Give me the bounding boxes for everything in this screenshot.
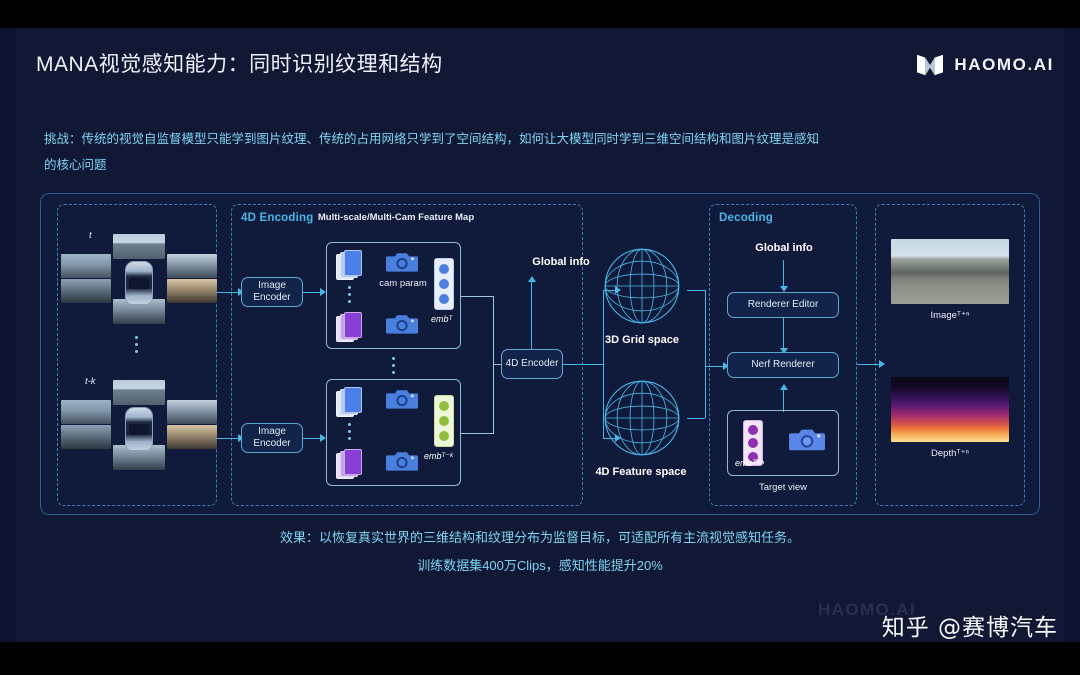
- letterbox-bottom: [0, 642, 1080, 675]
- arrow-grid-down: [705, 290, 706, 366]
- input-frame-t-k: t-k: [63, 374, 213, 472]
- input-frame-t-k-label: t-k: [85, 376, 96, 387]
- emb-token-top: [434, 258, 454, 310]
- output-image-depth: [891, 377, 1009, 442]
- grid-space-label: 3D Grid space: [582, 334, 702, 346]
- feature-space-label: 4D Feature space: [576, 466, 706, 478]
- arrow-into-nerf: [705, 366, 725, 367]
- cam-tile-front-right: [167, 400, 217, 424]
- feature-stack-ellipsis-bottom: [348, 423, 351, 440]
- arrow-feature-to-nerf: [687, 418, 705, 419]
- architecture-diagram-panel: 4D Encoding Decoding t t-k: [40, 193, 1040, 515]
- camera-icon-top: [386, 250, 418, 274]
- zhihu-watermark: 知乎 @赛博汽车: [882, 608, 1058, 642]
- feature-space-sphere-icon: [596, 372, 688, 464]
- brand-name: HAOMO.AI: [954, 55, 1054, 75]
- arrow-grid-to-nerf: [687, 290, 705, 291]
- ego-vehicle-icon: [125, 407, 153, 451]
- section-label-encoding: 4D Encoding: [241, 212, 313, 224]
- cam-tile-front: [113, 380, 165, 405]
- cam-tile-front: [113, 234, 165, 259]
- merge-line-bottom: [461, 433, 493, 434]
- cam-tile-rear-right: [167, 279, 217, 303]
- camera-icon-bottom-2: [386, 449, 418, 473]
- camera-icon-target: [789, 426, 825, 453]
- arrow-encoder-bottom-out: [303, 438, 321, 439]
- cam-tile-rear-left: [61, 425, 111, 449]
- challenge-text: 挑战：传统的视觉自监督模型只能学到图片纹理、传统的占用网络只学到了空间结构，如何…: [44, 126, 1044, 178]
- cam-tile-rear-right: [167, 425, 217, 449]
- ego-vehicle-icon: [125, 261, 153, 305]
- renderer-editor-box[interactable]: Renderer Editor: [727, 292, 839, 318]
- cam-tile-front-left: [61, 254, 111, 278]
- feature-map-title: Multi-scale/Multi-Cam Feature Map: [311, 212, 481, 223]
- output-image-rgb: [891, 239, 1009, 304]
- output-image-label: Imageᵀ⁺ⁿ: [891, 310, 1009, 321]
- target-view-label: Target view: [733, 482, 833, 493]
- slide-left-edge: [0, 28, 16, 642]
- feature-stack-blue-bottom: [336, 387, 362, 421]
- cam-param-label: cam param: [374, 278, 432, 289]
- camera-icon-top-2: [386, 312, 418, 336]
- challenge-line-2: 的核心问题: [44, 152, 1044, 178]
- arrow-target-to-nerf: [783, 390, 784, 412]
- feature-stack-ellipsis-top: [348, 286, 351, 303]
- output-depth-label: Depthᵀ⁺ⁿ: [891, 448, 1009, 459]
- effect-line-2: 训练数据集400万Clips，感知性能提升20%: [40, 552, 1040, 580]
- screenshot-root: MANA视觉感知能力：同时识别纹理和结构 HAOMO.AI 挑战：传统的视觉自监…: [0, 0, 1080, 675]
- letterbox-top: [0, 0, 1080, 28]
- challenge-line-1: 挑战：传统的视觉自监督模型只能学到图片纹理、传统的占用网络只学到了空间结构，如何…: [44, 126, 1044, 152]
- camera-icon-bottom: [386, 387, 418, 411]
- image-encoder-top[interactable]: Image Encoder: [241, 277, 303, 307]
- cam-tile-rear-left: [61, 279, 111, 303]
- cam-tile-front-right: [167, 254, 217, 278]
- input-frame-t-label: t: [89, 230, 92, 241]
- emb-token-bottom-label: embᵀ⁻ᵏ: [424, 451, 453, 462]
- feature-stack-blue-top: [336, 250, 362, 284]
- effect-text: 效果：以恢复真实世界的三维结构和纹理分布为监督目标，可适配所有主流视觉感知任务。…: [40, 524, 1040, 580]
- feature-stack-purple-top: [336, 312, 362, 346]
- arrow-input-to-encoder-bottom: [217, 438, 239, 439]
- arrowhead-output: [879, 360, 885, 368]
- arrow-encoder-top-out: [303, 292, 321, 293]
- slide-right-edge: [1064, 28, 1080, 642]
- arrow-4d-to-global: [531, 282, 532, 349]
- cam-tile-front-left: [61, 400, 111, 424]
- emb-token-top-label: embᵀ: [431, 314, 452, 324]
- feature-blocks-ellipsis: [392, 357, 395, 374]
- brand-logo: HAOMO.AI: [915, 52, 1054, 78]
- arrow-global-to-editor: [783, 260, 784, 288]
- four-d-encoder-box[interactable]: 4D Encoder: [501, 349, 563, 379]
- input-frames-ellipsis: [135, 336, 138, 353]
- arrow-input-to-encoder-top: [217, 292, 239, 293]
- grid-space-sphere-icon: [596, 240, 688, 332]
- input-frame-t: t: [63, 228, 213, 326]
- nerf-renderer-box[interactable]: Nerf Renderer: [727, 352, 839, 378]
- haomo-m-logo-icon: [915, 52, 945, 78]
- arrow-decoding-to-output: [857, 364, 881, 365]
- emb-token-bottom: [434, 395, 454, 447]
- arrowhead-nerf-from-target: [780, 384, 788, 390]
- section-label-decoding: Decoding: [719, 212, 773, 224]
- merge-line-top: [461, 296, 493, 297]
- image-encoder-bottom[interactable]: Image Encoder: [241, 423, 303, 453]
- arrowhead-global-info: [528, 276, 536, 282]
- page-title: MANA视觉感知能力：同时识别纹理和结构: [36, 48, 443, 78]
- effect-line-1: 效果：以恢复真实世界的三维结构和纹理分布为监督目标，可适配所有主流视觉感知任务。: [40, 524, 1040, 552]
- arrow-editor-to-nerf: [783, 318, 784, 350]
- arrow-feature-up: [705, 366, 706, 418]
- arrow-4d-to-spaces: [563, 364, 603, 365]
- feature-stack-purple-bottom: [336, 449, 362, 483]
- emb-target-label: embᵀ⁺ⁿ: [735, 458, 764, 469]
- global-info-label-decoder: Global info: [719, 242, 849, 254]
